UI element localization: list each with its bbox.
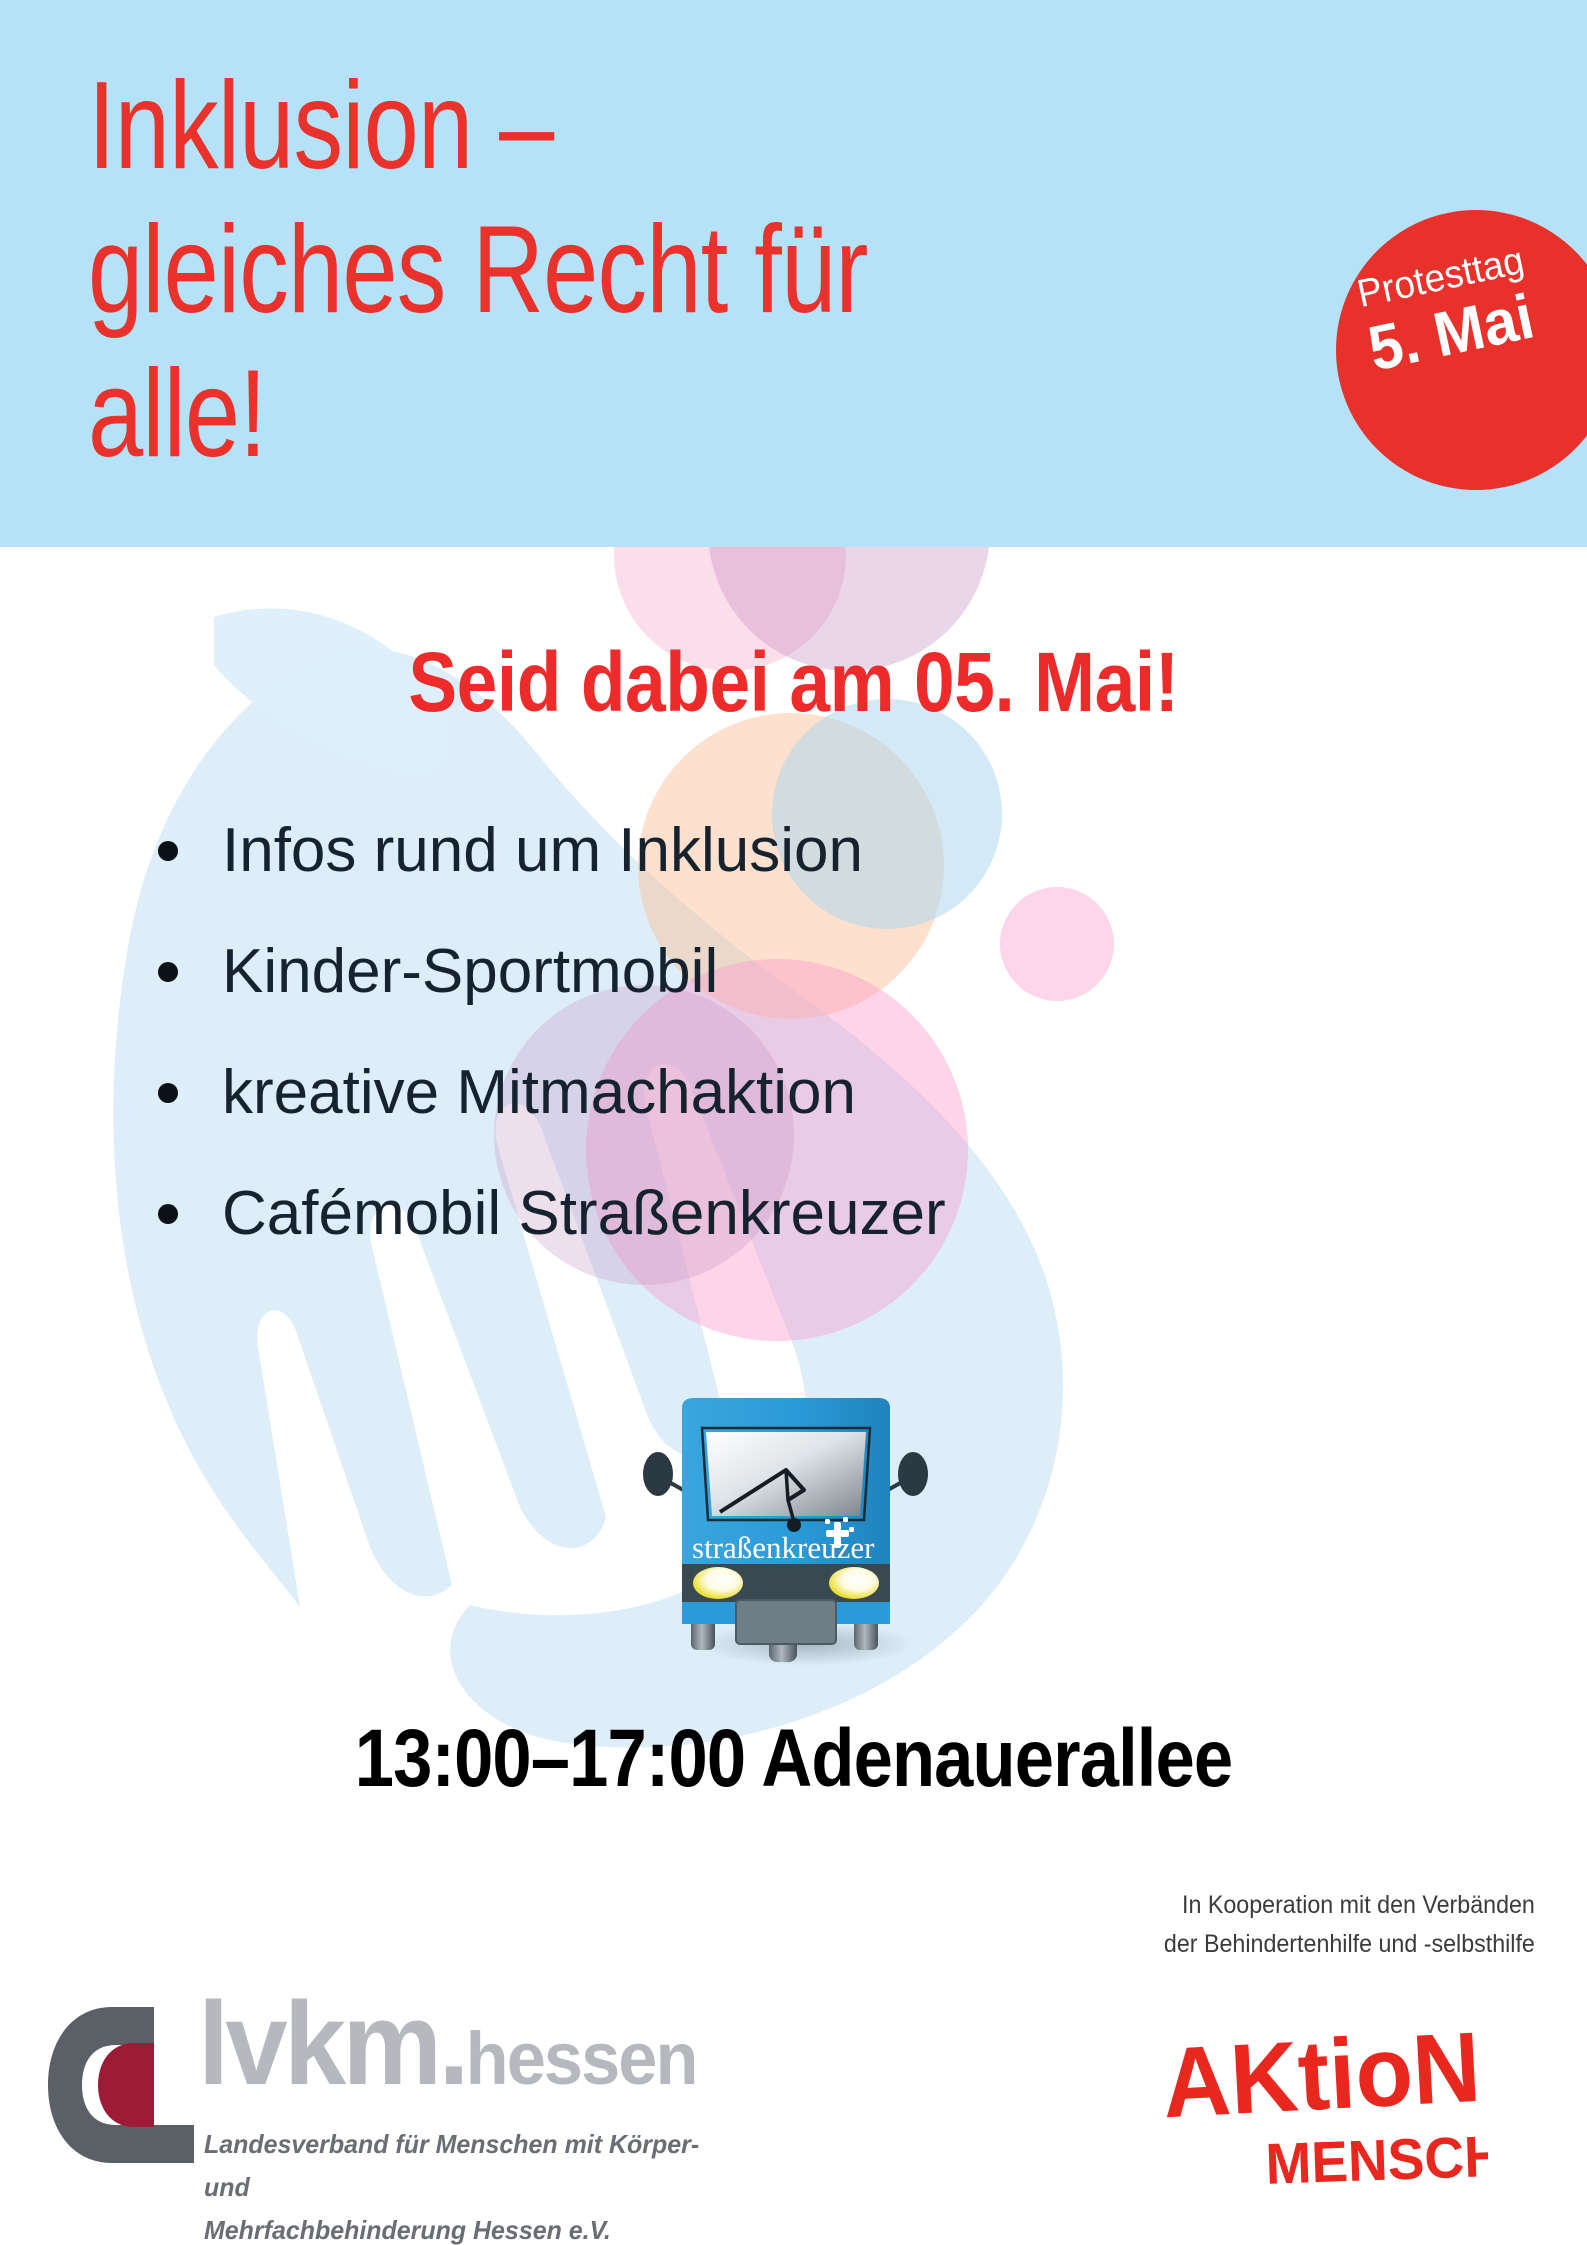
lvkm-wordmark-main: lvkm: [198, 1978, 438, 2110]
strassenkreuzer-truck-illustration: straßenkreuzer: [636, 1372, 956, 1672]
page-title: Inklusion – gleiches Recht für alle!: [88, 55, 1072, 486]
aktion-mensch-icon: AKtioN MENSCH: [1158, 2018, 1488, 2198]
truck-icon: straßenkreuzer: [636, 1372, 956, 1672]
lvkm-hessen-logo: lvkm.hessen Landesverband für Menschen m…: [38, 1995, 738, 2205]
list-item: kreative Mitmachaktion: [150, 1062, 1350, 1124]
list-item: Cafémobil Straßenkreuzer: [150, 1183, 1350, 1245]
list-item: Infos rund um Inklusion: [150, 820, 1350, 882]
header-band: Inklusion – gleiches Recht für alle! Pro…: [0, 0, 1587, 547]
cooperation-note: In Kooperation mit den Verbänden der Beh…: [1164, 1886, 1535, 1964]
aktion-mensch-line2: MENSCH: [1264, 2123, 1488, 2196]
event-time-location: 13:00–17:00 Adenauerallee: [111, 1718, 1476, 1800]
lvkm-c-mark-icon: [38, 1993, 198, 2193]
aktion-mensch-logo: AKtioN MENSCH: [1158, 2018, 1488, 2198]
sub-headline: Seid dabei am 05. Mai!: [103, 640, 1484, 724]
poster-root: Inklusion – gleiches Recht für alle! Pro…: [0, 0, 1587, 2245]
list-item: Kinder-Sportmobil: [150, 941, 1350, 1003]
aktion-mensch-line1: AKtioN: [1160, 2018, 1483, 2139]
lvkm-wordmark-dot: .: [438, 1978, 465, 2110]
lvkm-subtitle: Landesverband für Menschen mit Körper- u…: [204, 2123, 717, 2245]
protest-day-badge: [1336, 210, 1587, 490]
lvkm-wordmark-region: hessen: [466, 2017, 697, 2100]
program-list: Infos rund um Inklusion Kinder-Sportmobi…: [150, 820, 1350, 1304]
lvkm-wordmark: lvkm.hessen: [198, 1985, 697, 2103]
truck-brand-text: straßenkreuzer: [692, 1530, 875, 1565]
